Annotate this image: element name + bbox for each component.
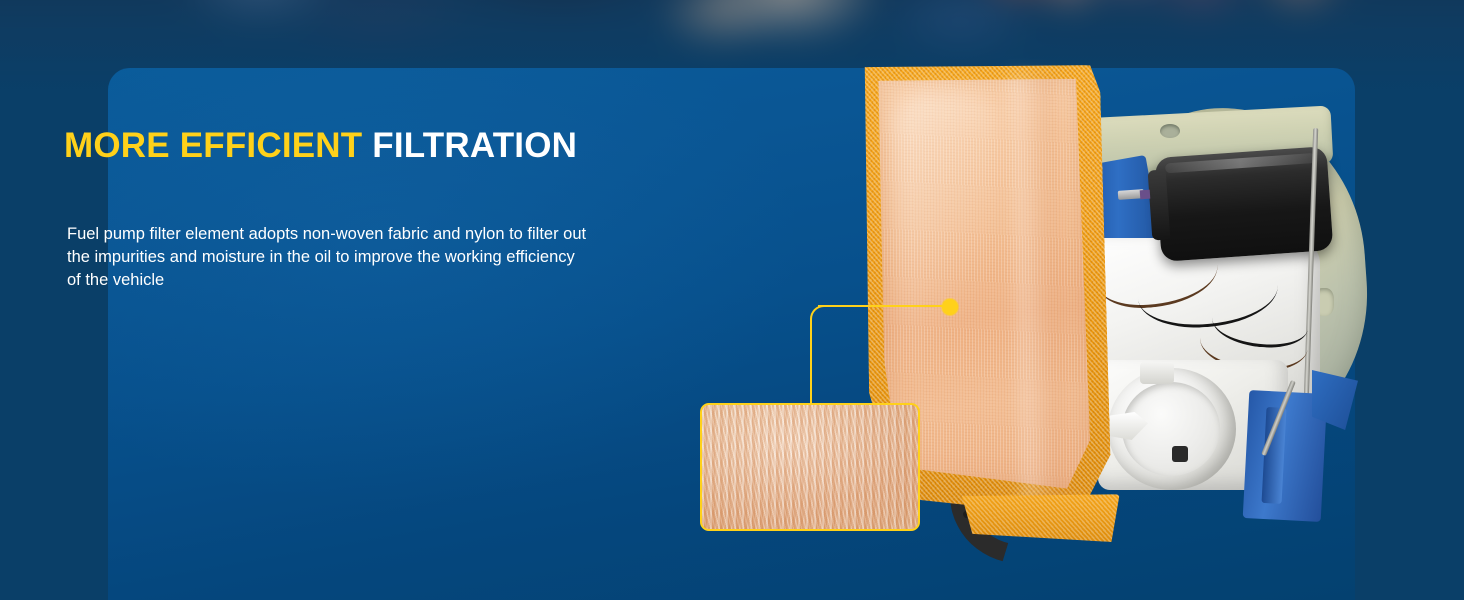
black-nub-icon [1172,446,1188,462]
filter-mesh-highlight-icon [891,89,1009,393]
white-plastic-post-icon [1140,362,1174,384]
product-photo-composition [0,0,1464,600]
headline-rest: FILTRATION [362,126,577,165]
feature-text-block: MORE EFFICIENT FILTRATION Fuel pump filt… [64,128,624,293]
feature-description: Fuel pump filter element adopts non-wove… [67,223,587,293]
filter-mesh-foot-icon [962,489,1121,542]
sender-terminal-pin-secondary-icon [1140,190,1151,200]
promo-banner-stage: MORE EFFICIENT FILTRATION Fuel pump filt… [0,0,1464,600]
page-title: MORE EFFICIENT FILTRATION [64,128,624,165]
filter-mesh-bag [860,58,1113,518]
flange-hole-icon [1160,124,1180,138]
headline-highlight: MORE EFFICIENT [64,126,362,165]
